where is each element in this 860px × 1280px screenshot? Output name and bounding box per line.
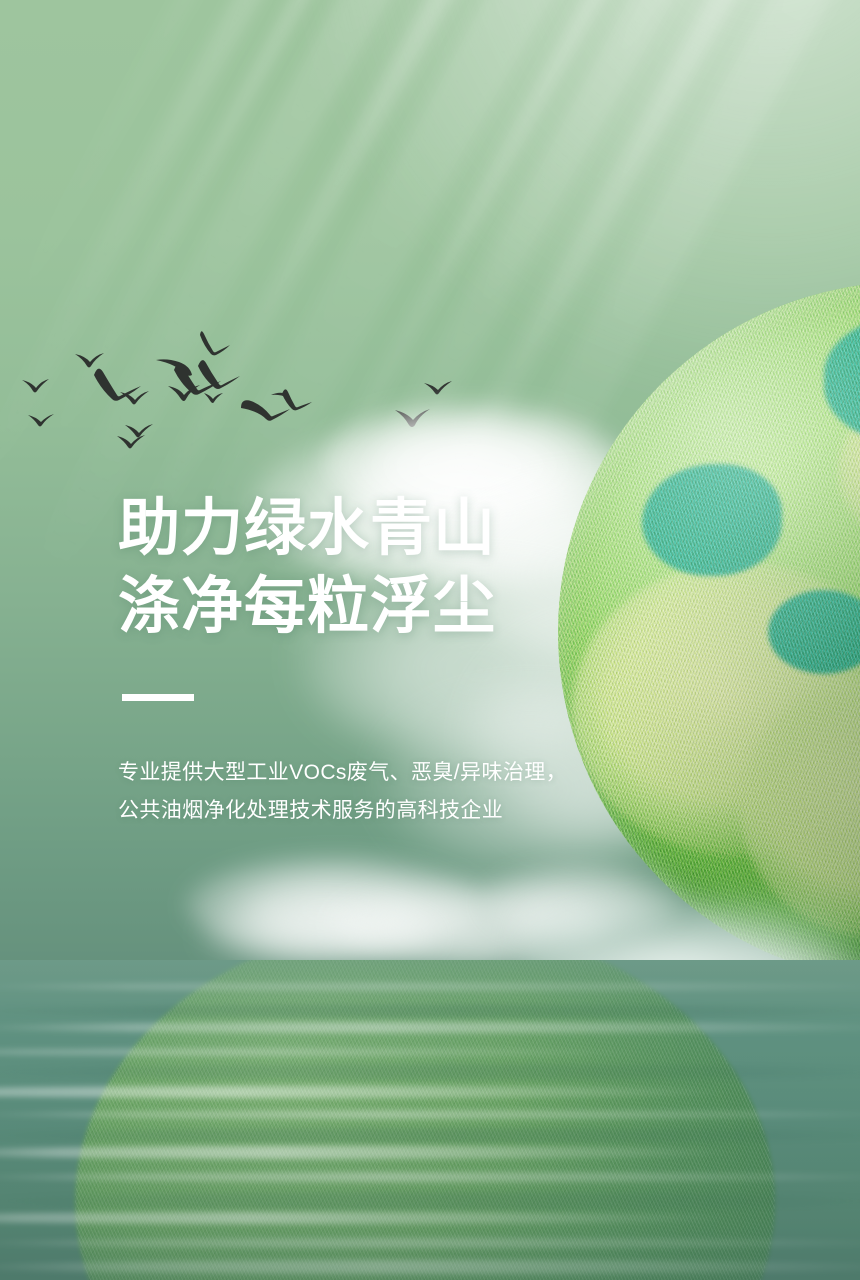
sun-ray xyxy=(0,0,541,500)
water-wave xyxy=(0,1260,860,1274)
sun-ray xyxy=(0,0,490,341)
globe-reflection-texture xyxy=(75,960,775,1280)
cloud xyxy=(530,935,720,1005)
water-wave xyxy=(0,1238,860,1248)
flying-birds-flock xyxy=(0,320,470,450)
headline-line-1: 助力绿水青山 xyxy=(118,490,678,568)
water-wave xyxy=(0,1128,860,1143)
water-wave xyxy=(0,1110,860,1119)
sun-ray xyxy=(114,0,686,572)
hero-copy: 助力绿水青山 涤净每粒浮尘 专业提供大型工业VOCs废气、恶臭/异味治理， 公共… xyxy=(118,490,678,830)
water-wave xyxy=(0,1212,740,1224)
waterline-mist xyxy=(520,900,860,1070)
water-wave xyxy=(0,1172,860,1182)
cloud xyxy=(200,900,440,970)
water-wave xyxy=(0,982,860,991)
headline-divider xyxy=(122,694,194,701)
globe-land-pale xyxy=(838,380,860,562)
water-wave xyxy=(0,1192,860,1210)
birds-icon xyxy=(0,320,470,450)
globe-ocean xyxy=(768,590,860,674)
water-wave xyxy=(0,1004,860,1018)
cloud xyxy=(480,862,680,942)
cloud xyxy=(185,855,485,955)
water-base xyxy=(0,960,860,1280)
water-wave xyxy=(0,1022,860,1033)
water-wave xyxy=(0,1086,740,1098)
globe-land-pale xyxy=(740,674,860,940)
globe-water-reflection xyxy=(75,960,775,1280)
water-surface xyxy=(0,960,860,1280)
subcopy-line-2: 公共油烟净化处理技术服务的高科技企业 xyxy=(118,792,678,830)
water-wave xyxy=(0,1064,860,1080)
water-wave xyxy=(0,1048,660,1056)
headline-line-2: 涤净每粒浮尘 xyxy=(118,568,678,646)
cloud xyxy=(615,930,860,1040)
poster-canvas: 助力绿水青山 涤净每粒浮尘 专业提供大型工业VOCs废气、恶臭/异味治理， 公共… xyxy=(0,0,860,1280)
water-wave xyxy=(0,1146,740,1159)
globe-ocean xyxy=(824,310,860,450)
subcopy-line-1: 专业提供大型工业VOCs废气、恶臭/异味治理， xyxy=(118,754,678,792)
sun-glow xyxy=(300,0,860,400)
water-overlay xyxy=(0,960,860,1280)
cloud xyxy=(330,878,610,970)
sun-ray xyxy=(40,0,576,459)
